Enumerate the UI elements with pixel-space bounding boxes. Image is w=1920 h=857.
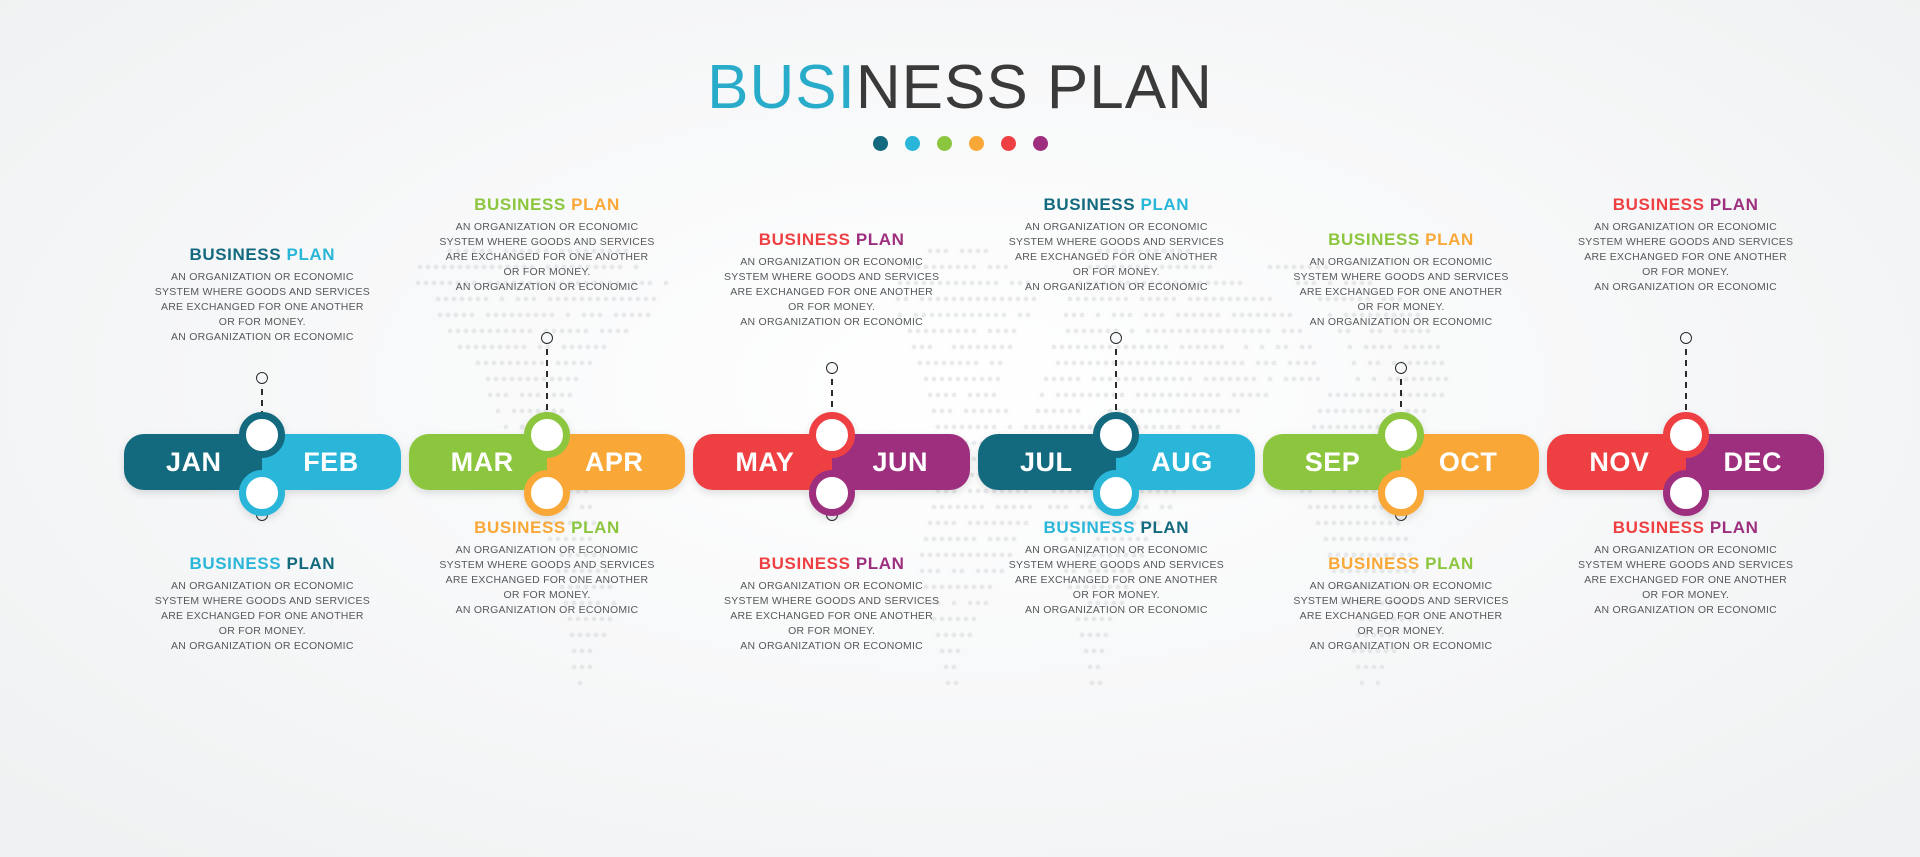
info-block-bottom-5: BUSINESS PLANAN ORGANIZATION OR ECONOMIC…	[1251, 554, 1551, 654]
title-dot-6	[1033, 136, 1048, 151]
info-block-body: AN ORGANIZATION OR ECONOMICSYSTEM WHERE …	[397, 543, 697, 618]
timeline-bar-row: JANFEBMARAPRMAYJUNJULAUGSEPOCTNOVDEC	[124, 434, 1824, 490]
info-block-top-6: BUSINESS PLANAN ORGANIZATION OR ECONOMIC…	[1536, 195, 1836, 295]
timeline-pair-3: MAYJUN	[693, 434, 970, 490]
title-dot-5	[1001, 136, 1016, 151]
connector-endcap-upper-2	[541, 332, 553, 344]
heading-word-b: PLAN	[1135, 195, 1189, 214]
info-block-body: AN ORGANIZATION OR ECONOMICSYSTEM WHERE …	[397, 220, 697, 295]
info-block-heading: BUSINESS PLAN	[112, 245, 412, 265]
heading-word-a: BUSINESS	[1043, 518, 1135, 537]
info-block-bottom-3: BUSINESS PLANAN ORGANIZATION OR ECONOMIC…	[682, 554, 982, 654]
heading-word-b: PLAN	[851, 230, 905, 249]
title-dot-1	[873, 136, 888, 151]
info-block-body: AN ORGANIZATION OR ECONOMICSYSTEM WHERE …	[112, 579, 412, 654]
info-block-heading: BUSINESS PLAN	[397, 518, 697, 538]
heading-word-a: BUSINESS	[1613, 195, 1705, 214]
info-block-body: AN ORGANIZATION OR ECONOMICSYSTEM WHERE …	[1536, 543, 1836, 618]
heading-word-b: PLAN	[1705, 518, 1759, 537]
info-block-heading: BUSINESS PLAN	[966, 518, 1266, 538]
milestone-knob-lower-2[interactable]	[524, 470, 570, 516]
title-part-b: NESS PLAN	[856, 53, 1213, 122]
info-block-body: AN ORGANIZATION OR ECONOMICSYSTEM WHERE …	[112, 270, 412, 345]
heading-word-a: BUSINESS	[189, 554, 281, 573]
info-block-body: AN ORGANIZATION OR ECONOMICSYSTEM WHERE …	[682, 255, 982, 330]
connector-endcap-upper-3	[826, 362, 838, 374]
title-dot-4	[969, 136, 984, 151]
heading-word-b: PLAN	[1420, 554, 1474, 573]
info-block-body: AN ORGANIZATION OR ECONOMICSYSTEM WHERE …	[966, 220, 1266, 295]
heading-word-a: BUSINESS	[189, 245, 281, 264]
milestone-knob-upper-2[interactable]	[524, 412, 570, 458]
milestone-knob-upper-4[interactable]	[1093, 412, 1139, 458]
timeline-pair-5: SEPOCT	[1263, 434, 1540, 490]
connector-endcap-upper-1	[256, 372, 268, 384]
info-block-body: AN ORGANIZATION OR ECONOMICSYSTEM WHERE …	[966, 543, 1266, 618]
milestone-knob-upper-6[interactable]	[1663, 412, 1709, 458]
heading-word-b: PLAN	[281, 245, 335, 264]
infographic-canvas: BUSINESS PLAN BUSINESS PLANAN ORGANIZATI…	[0, 0, 1920, 857]
title-dot-2	[905, 136, 920, 151]
heading-word-b: PLAN	[1705, 195, 1759, 214]
info-block-heading: BUSINESS PLAN	[682, 230, 982, 250]
info-block-heading: BUSINESS PLAN	[1536, 518, 1836, 538]
connector-endcap-upper-5	[1395, 362, 1407, 374]
milestone-knob-lower-3[interactable]	[809, 470, 855, 516]
info-block-body: AN ORGANIZATION OR ECONOMICSYSTEM WHERE …	[1251, 579, 1551, 654]
heading-word-a: BUSINESS	[759, 554, 851, 573]
timeline-pair-6: NOVDEC	[1547, 434, 1824, 490]
info-block-top-3: BUSINESS PLANAN ORGANIZATION OR ECONOMIC…	[682, 230, 982, 330]
title-dot-3	[937, 136, 952, 151]
milestone-knob-upper-5[interactable]	[1378, 412, 1424, 458]
timeline-pair-2: MARAPR	[409, 434, 686, 490]
page-title: BUSINESS PLAN	[0, 55, 1920, 120]
info-block-top-5: BUSINESS PLANAN ORGANIZATION OR ECONOMIC…	[1251, 230, 1551, 330]
info-block-body: AN ORGANIZATION OR ECONOMICSYSTEM WHERE …	[682, 579, 982, 654]
milestone-knob-lower-1[interactable]	[239, 470, 285, 516]
heading-word-b: PLAN	[1135, 518, 1189, 537]
info-block-heading: BUSINESS PLAN	[1251, 230, 1551, 250]
timeline-pair-4: JULAUG	[978, 434, 1255, 490]
heading-word-b: PLAN	[281, 554, 335, 573]
info-block-heading: BUSINESS PLAN	[397, 195, 697, 215]
milestone-knob-lower-6[interactable]	[1663, 470, 1709, 516]
heading-word-b: PLAN	[851, 554, 905, 573]
milestone-knob-upper-1[interactable]	[239, 412, 285, 458]
heading-word-a: BUSINESS	[759, 230, 851, 249]
title-block: BUSINESS PLAN	[0, 55, 1920, 151]
info-block-top-1: BUSINESS PLANAN ORGANIZATION OR ECONOMIC…	[112, 245, 412, 345]
timeline-pair-1: JANFEB	[124, 434, 401, 490]
info-block-bottom-1: BUSINESS PLANAN ORGANIZATION OR ECONOMIC…	[112, 554, 412, 654]
info-block-heading: BUSINESS PLAN	[1251, 554, 1551, 574]
heading-word-a: BUSINESS	[474, 195, 566, 214]
milestone-knob-lower-5[interactable]	[1378, 470, 1424, 516]
milestone-knob-upper-3[interactable]	[809, 412, 855, 458]
info-block-heading: BUSINESS PLAN	[682, 554, 982, 574]
info-block-body: AN ORGANIZATION OR ECONOMICSYSTEM WHERE …	[1251, 255, 1551, 330]
info-block-bottom-6: BUSINESS PLANAN ORGANIZATION OR ECONOMIC…	[1536, 518, 1836, 618]
title-part-a: BUSI	[707, 53, 856, 122]
connector-endcap-upper-6	[1680, 332, 1692, 344]
heading-word-b: PLAN	[566, 518, 620, 537]
heading-word-a: BUSINESS	[1328, 230, 1420, 249]
heading-word-b: PLAN	[566, 195, 620, 214]
info-block-top-2: BUSINESS PLANAN ORGANIZATION OR ECONOMIC…	[397, 195, 697, 295]
info-block-top-4: BUSINESS PLANAN ORGANIZATION OR ECONOMIC…	[966, 195, 1266, 295]
info-block-heading: BUSINESS PLAN	[112, 554, 412, 574]
heading-word-a: BUSINESS	[474, 518, 566, 537]
heading-word-a: BUSINESS	[1043, 195, 1135, 214]
info-block-heading: BUSINESS PLAN	[966, 195, 1266, 215]
milestone-knob-lower-4[interactable]	[1093, 470, 1139, 516]
connector-endcap-upper-4	[1110, 332, 1122, 344]
info-block-body: AN ORGANIZATION OR ECONOMICSYSTEM WHERE …	[1536, 220, 1836, 295]
heading-word-a: BUSINESS	[1613, 518, 1705, 537]
heading-word-a: BUSINESS	[1328, 554, 1420, 573]
info-block-bottom-4: BUSINESS PLANAN ORGANIZATION OR ECONOMIC…	[966, 518, 1266, 618]
info-block-heading: BUSINESS PLAN	[1536, 195, 1836, 215]
info-block-bottom-2: BUSINESS PLANAN ORGANIZATION OR ECONOMIC…	[397, 518, 697, 618]
title-dot-row	[0, 136, 1920, 151]
heading-word-b: PLAN	[1420, 230, 1474, 249]
